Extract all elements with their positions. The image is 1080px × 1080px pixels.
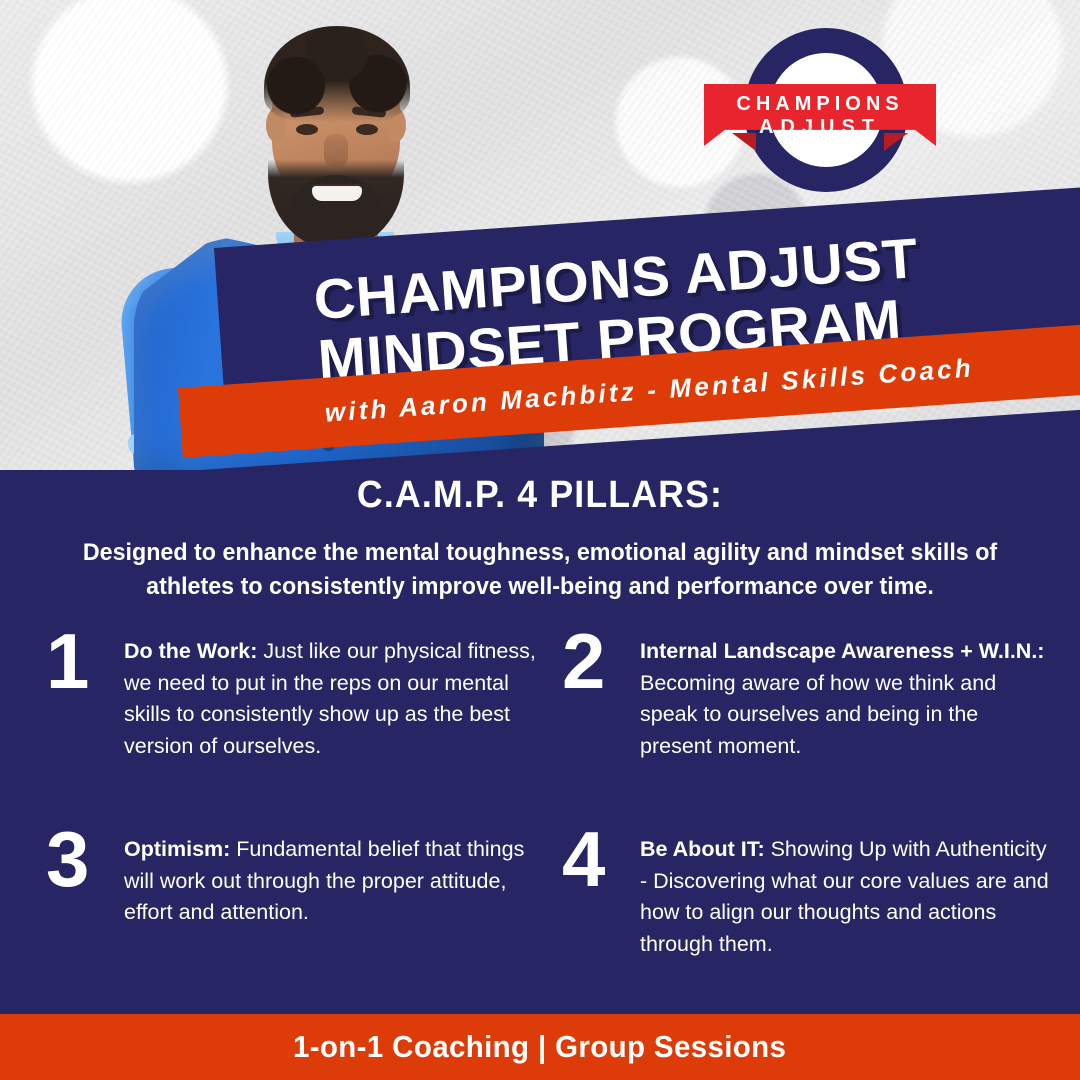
footer-bar: 1-on-1 Coaching | Group Sessions (0, 1014, 1080, 1080)
pillar-lead: Be About IT: (640, 837, 765, 861)
pillar-text: Do the Work: Just like our physical fitn… (124, 630, 536, 762)
pillar-text: Internal Landscape Awareness + W.I.N.: B… (640, 630, 1050, 762)
pillar-number: 3 (46, 828, 124, 892)
pillar-item: 3 Optimism: Fundamental belief that thin… (46, 828, 536, 929)
athlete-smile (312, 186, 362, 201)
pillar-item: 1 Do the Work: Just like our physical fi… (46, 630, 536, 762)
pillars-grid: 1 Do the Work: Just like our physical fi… (46, 630, 1050, 990)
athlete-eye-left (296, 124, 318, 135)
pillar-text: Be About IT: Showing Up with Authenticit… (640, 828, 1050, 960)
poster-canvas: CHAMPIONS ADJUST CHAMPIONS ADJUST MINDSE… (0, 0, 1080, 1080)
pillar-lead: Do the Work: (124, 639, 257, 663)
logo-text: CHAMPIONS ADJUST (704, 84, 936, 146)
athlete-nose (324, 134, 348, 168)
pillar-number: 4 (562, 828, 640, 892)
pillar-lead: Optimism: (124, 837, 230, 861)
pillar-number: 2 (562, 630, 640, 694)
logo-line-1: CHAMPIONS (736, 94, 903, 114)
pillar-number: 1 (46, 630, 124, 694)
pillar-lead: Internal Landscape Awareness + W.I.N.: (640, 639, 1044, 663)
camp-description: Designed to enhance the mental toughness… (65, 536, 1015, 604)
camp-heading: C.A.M.P. 4 PILLARS: (32, 474, 1047, 517)
champions-adjust-logo: CHAMPIONS ADJUST (726, 22, 914, 202)
pillar-text: Optimism: Fundamental belief that things… (124, 828, 536, 929)
pillar-body: Becoming aware of how we think and speak… (640, 671, 996, 758)
athlete-hair (264, 26, 410, 122)
footer-text: 1-on-1 Coaching | Group Sessions (293, 1029, 786, 1065)
athlete-eye-right (356, 124, 378, 135)
pillar-item: 2 Internal Landscape Awareness + W.I.N.:… (562, 630, 1050, 762)
pillar-item: 4 Be About IT: Showing Up with Authentic… (562, 828, 1050, 960)
logo-line-2: ADJUST (759, 117, 881, 137)
